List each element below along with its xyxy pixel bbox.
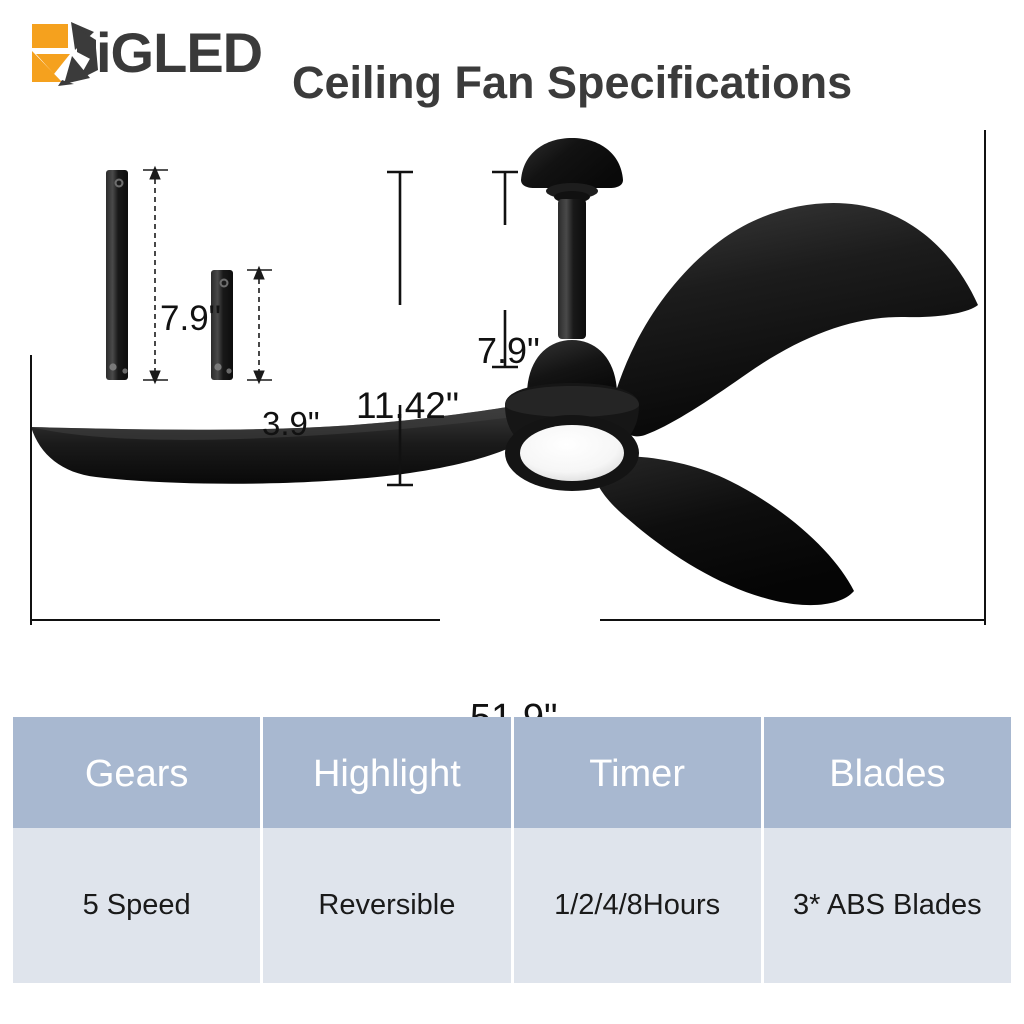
fan-diagram: 7.9" 3.9" 11.42" 7.9" 51.9" <box>0 105 1024 680</box>
dimension-line-downrod-long <box>143 167 168 383</box>
table-header-timer: Timer <box>514 717 764 828</box>
ceiling-canopy <box>521 138 623 188</box>
fan-illustration <box>0 105 1024 680</box>
table-header-row: Gears Highlight Timer Blades <box>13 717 1011 828</box>
led-light-lens <box>520 425 624 481</box>
dimension-label-downrod-long: 7.9" <box>160 299 221 339</box>
fan-downrod <box>558 199 586 339</box>
aperture-logo-icon <box>28 18 102 88</box>
dimension-label-drop: 7.9" <box>477 330 540 372</box>
table-value-timer: 1/2/4/8Hours <box>514 828 764 983</box>
table-header-highlight: Highlight <box>263 717 513 828</box>
table-header-gears: Gears <box>13 717 263 828</box>
dimension-label-overall-height: 11.42" <box>356 385 459 427</box>
fan-blade-upper-right <box>612 203 978 436</box>
table-value-row: 5 Speed Reversible 1/2/4/8Hours 3* ABS B… <box>13 828 1011 983</box>
table-value-gears: 5 Speed <box>13 828 263 983</box>
table-header-blades: Blades <box>764 717 1011 828</box>
fan-blade-lower-right <box>594 456 854 605</box>
table-value-blades: 3* ABS Blades <box>764 828 1011 983</box>
downrod-long <box>106 170 128 380</box>
brand-wordmark: iGLED <box>96 19 262 87</box>
page-header: iGLED Ceiling Fan Specifications <box>0 0 1024 105</box>
dimension-label-downrod-short: 3.9" <box>262 405 320 443</box>
table-value-highlight: Reversible <box>263 828 513 983</box>
specification-table: Gears Highlight Timer Blades 5 Speed Rev… <box>13 717 1011 983</box>
dimension-line-downrod-short <box>247 267 272 383</box>
